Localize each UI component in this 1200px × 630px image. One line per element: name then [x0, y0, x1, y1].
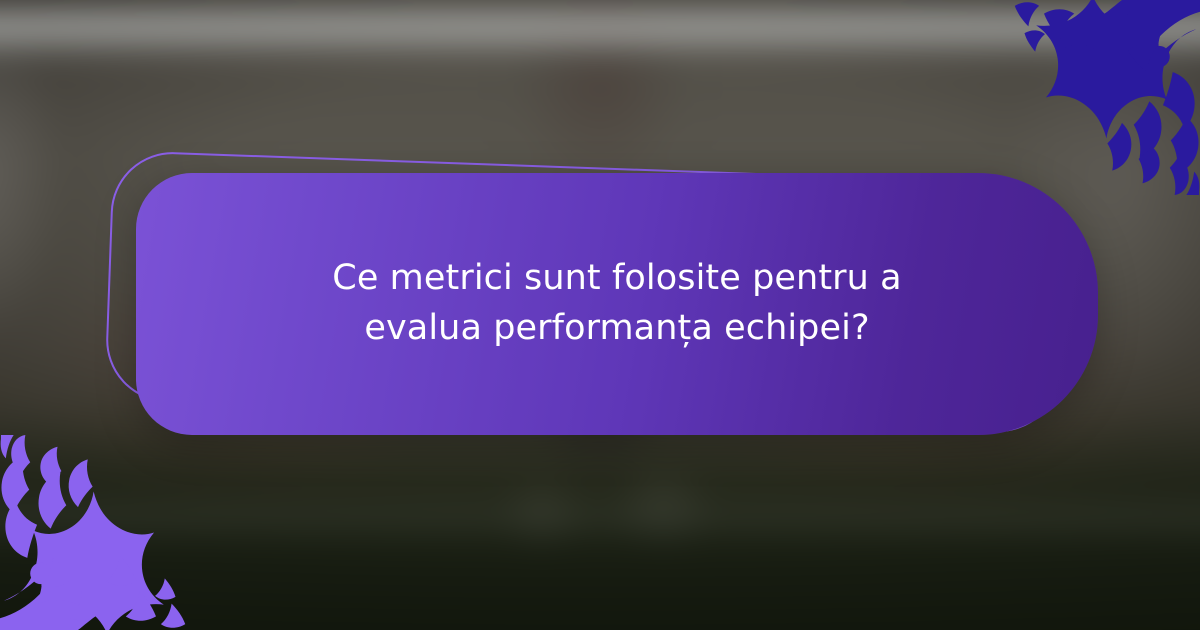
question-card-stack: Ce metrici sunt folosite pentru a evalua… — [113, 150, 1098, 435]
bottom-left-ornament — [0, 435, 195, 630]
floral-damask-corner-icon — [0, 435, 185, 630]
question-text: Ce metrici sunt folosite pentru a evalua… — [267, 254, 967, 353]
poster-canvas: Ce metrici sunt folosite pentru a evalua… — [0, 0, 1200, 630]
question-card: Ce metrici sunt folosite pentru a evalua… — [136, 173, 1098, 435]
